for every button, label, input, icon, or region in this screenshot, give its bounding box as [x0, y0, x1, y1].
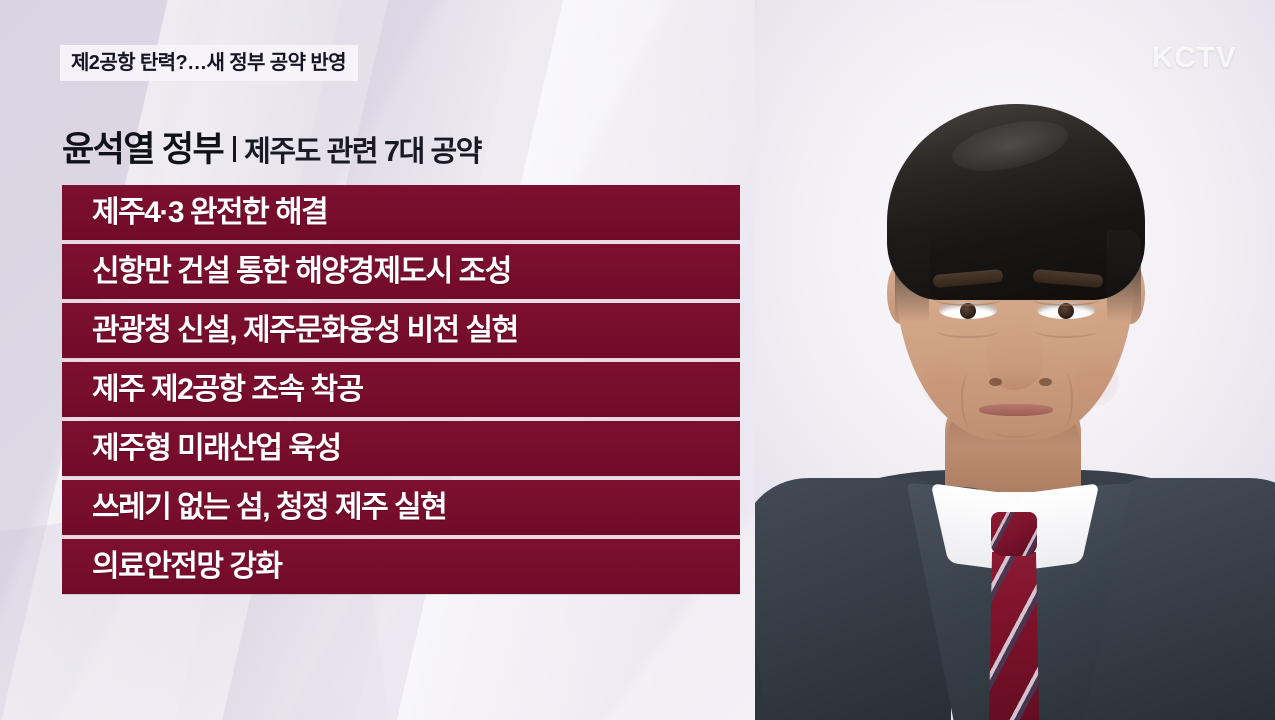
headline-badge: 제2공항 탄력?…새 정부 공약 반영: [60, 45, 358, 81]
pledge-row: 쓰레기 없는 섬, 청정 제주 실현: [62, 480, 740, 535]
section-title-sub: 제주도 관련 7대 공약: [244, 138, 481, 167]
nasolabial-fold-right: [1055, 372, 1073, 426]
necktie-knot: [991, 512, 1037, 556]
mouth: [979, 404, 1053, 416]
necktie-body: [989, 552, 1039, 720]
necktie-stripes: [991, 512, 1037, 556]
pledge-text: 제주 제2공항 조속 착공: [62, 375, 363, 405]
portrait-photo: [755, 0, 1275, 720]
headline-text: 제2공항 탄력?…새 정부 공약 반영: [71, 53, 346, 73]
pledge-row: 신항만 건설 통한 해양경제도시 조성: [62, 244, 740, 299]
nostril-right: [1039, 378, 1052, 386]
pledge-text: 제주형 미래산업 육성: [62, 434, 341, 464]
pledge-text: 의료안전망 강화: [62, 552, 282, 582]
eyelid-left: [935, 294, 1001, 306]
undereye-crease-right: [1035, 324, 1097, 338]
station-logo: KCTV: [1152, 44, 1237, 73]
nasolabial-fold-left: [961, 372, 979, 426]
nostril-left: [989, 378, 1002, 386]
pledge-text: 제주4·3 완전한 해결: [62, 198, 327, 228]
eyelid-right: [1033, 294, 1099, 306]
news-graphic-stage: KCTV 제2공항 탄력?…새 정부 공약 반영 윤석열 정부 제주도 관련 7…: [0, 0, 1275, 720]
sideburn-right: [1107, 230, 1141, 322]
pledge-text: 쓰레기 없는 섬, 청정 제주 실현: [62, 493, 446, 523]
pledge-row: 제주형 미래산업 육성: [62, 421, 740, 476]
pledge-row: 제주 제2공항 조속 착공: [62, 362, 740, 417]
sideburn-left: [895, 230, 929, 322]
pledge-text: 관광청 신설, 제주문화융성 비전 실현: [62, 316, 518, 346]
chin-crease: [993, 424, 1039, 438]
section-title: 윤석열 정부 제주도 관련 7대 공약: [62, 132, 481, 167]
pledge-text: 신항만 건설 통한 해양경제도시 조성: [62, 257, 511, 287]
section-title-lead: 윤석열 정부: [62, 132, 223, 167]
pledge-row: 제주4·3 완전한 해결: [62, 185, 740, 240]
cheek-right: [1073, 356, 1119, 406]
pledge-row: 관광청 신설, 제주문화융성 비전 실현: [62, 303, 740, 358]
pledge-list: 제주4·3 완전한 해결 신항만 건설 통한 해양경제도시 조성 관광청 신설,…: [62, 185, 740, 594]
title-divider-icon: [233, 136, 236, 162]
pledge-row: 의료안전망 강화: [62, 539, 740, 594]
